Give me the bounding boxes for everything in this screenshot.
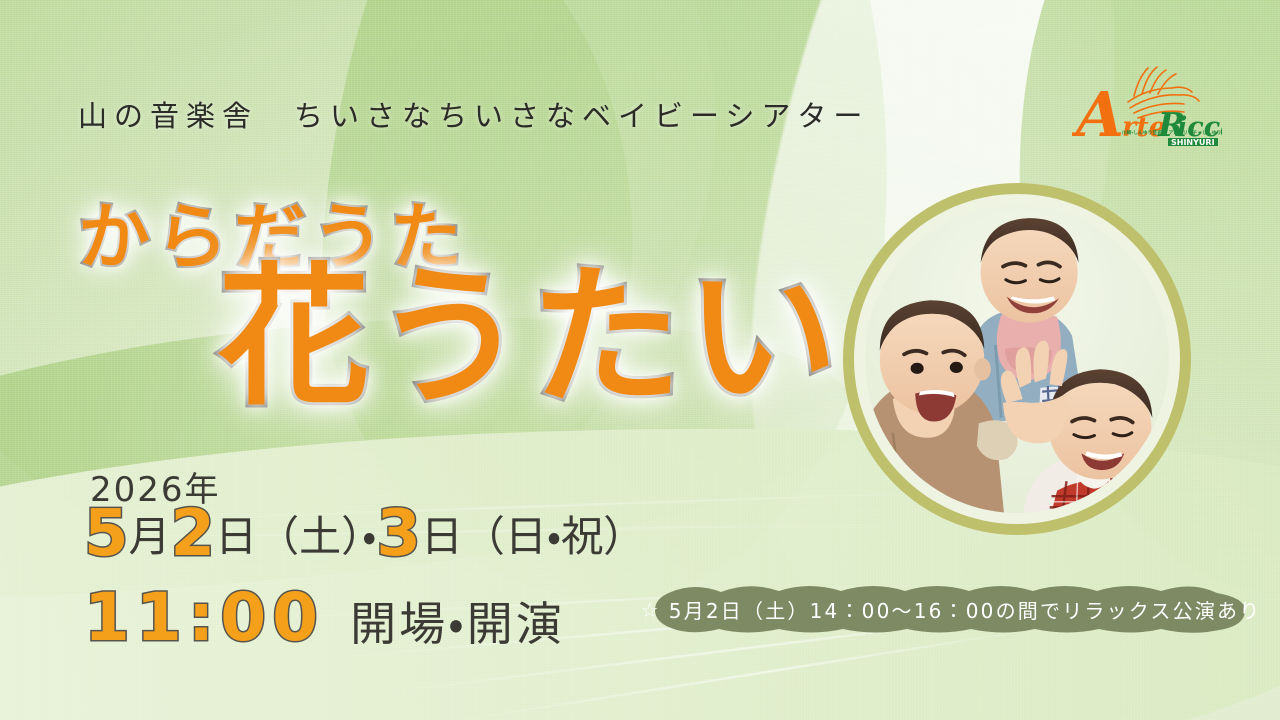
svg-text:SHINYURI: SHINYURI [1171,138,1215,147]
event-day2-number: 3 [376,497,421,571]
photo-image [865,205,1169,513]
event-day1-number: 2 [171,497,216,571]
relax-banner-text-row: ☆ 5月2日（土）14：00〜16：00の間でリラックス公演あり [645,586,1257,634]
event-day1-suffix: 日（土）・ [215,512,376,561]
baby-photo [843,183,1191,535]
event-month-number: 5 [84,497,129,571]
main-title-hanautai: 花うたい [218,262,842,414]
event-month-kanji: 月 [129,512,171,561]
svg-text:A: A [1072,78,1124,148]
event-start-time: 11:00 [84,579,324,656]
artericca-logo-subtext: 川崎・しんゆり芸術祭 アルテリッチャしんゆり [1122,130,1214,136]
photo-ring-border [843,183,1191,535]
event-time-line: 11:00開場・開演 [84,585,565,651]
relax-banner-text: 5月2日（土）14：00〜16：00の間でリラックス公演あり [669,595,1262,624]
poster-root: 山の音楽舎 ちいさなちいさなベイビーシアター A rte R i [0,0,1280,720]
event-time-label: 開場・開演 [350,597,565,651]
event-day2-suffix: 日（日・祝） [421,512,645,561]
star-icon: ☆ [641,600,661,620]
relax-performance-banner: ☆ 5月2日（土）14：00〜16：00の間でリラックス公演あり [645,586,1257,634]
header-series-line: 山の音楽舎 ちいさなちいさなベイビーシアター [78,93,869,135]
event-date-line: 5月2日（土）・3日（日・祝） [84,502,645,566]
